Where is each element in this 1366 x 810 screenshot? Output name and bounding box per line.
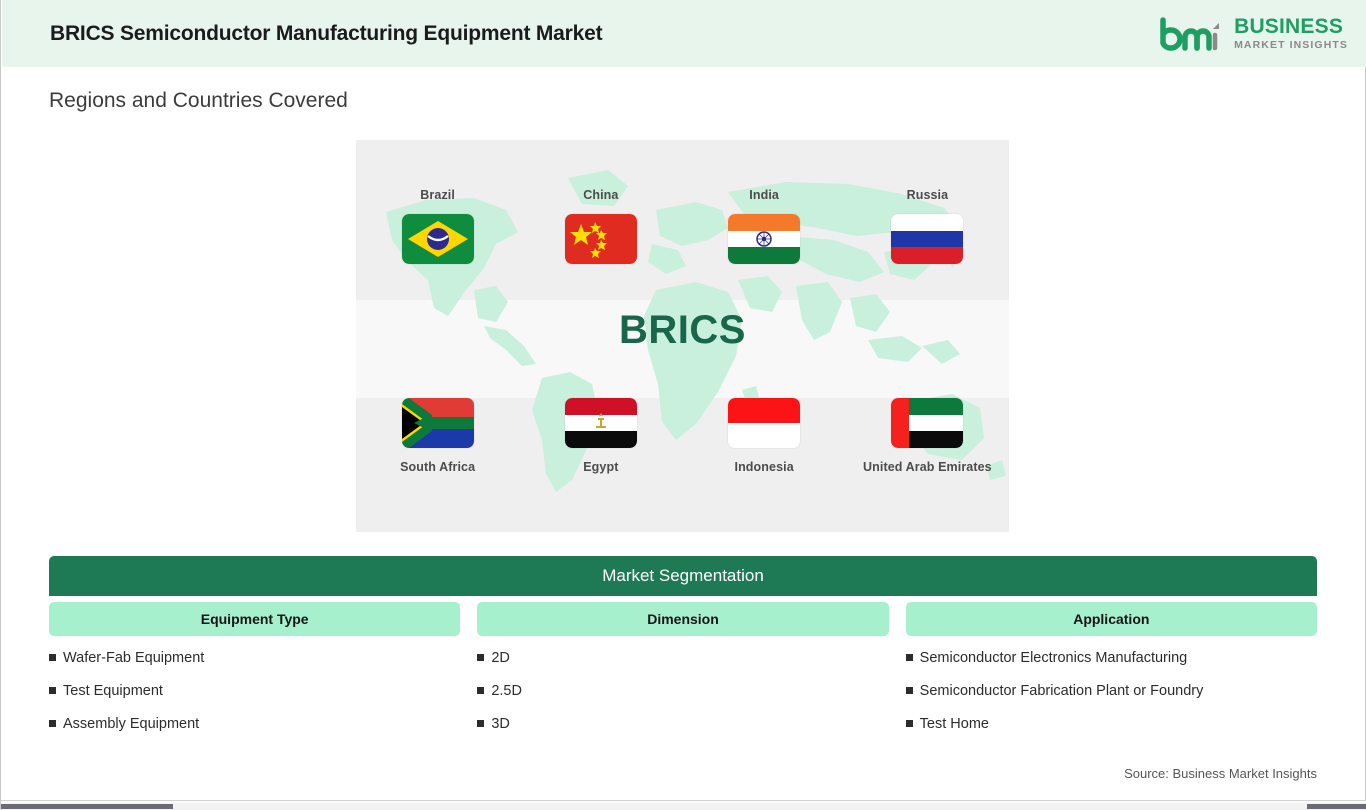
source-attribution: Source: Business Market Insights — [1124, 766, 1317, 781]
brand-logo: BUSINESS MARKET INSIGHTS — [1157, 16, 1348, 51]
country-label-uae: United Arab Emirates — [863, 460, 992, 474]
country-cell-egypt: Egypt — [519, 398, 682, 474]
segmentation-column-header-equipment-type: Equipment Type — [49, 602, 460, 636]
square-bullet-icon — [477, 687, 484, 694]
country-label-south-africa: South Africa — [400, 460, 475, 474]
scrollbar-track[interactable] — [1, 803, 1366, 810]
regions-map-panel: BRICS Brazil China — [356, 140, 1009, 532]
list-item: 3D — [477, 716, 888, 732]
segmentation-column-equipment-type: Wafer-Fab Equipment Test Equipment Assem… — [49, 650, 460, 749]
country-label-brazil: Brazil — [420, 188, 455, 202]
square-bullet-icon — [906, 654, 913, 661]
list-item-label: Semiconductor Fabrication Plant or Found… — [920, 683, 1204, 699]
square-bullet-icon — [477, 654, 484, 661]
segmentation-column-header-dimension: Dimension — [477, 602, 888, 636]
square-bullet-icon — [477, 720, 484, 727]
indonesia-flag-icon — [728, 398, 800, 448]
country-label-russia: Russia — [907, 188, 949, 202]
flag-row-bottom: South Africa Egypt — [356, 398, 1009, 474]
country-cell-brazil: Brazil — [356, 188, 519, 264]
square-bullet-icon — [49, 720, 56, 727]
egypt-flag-icon — [565, 398, 637, 448]
section-title: Regions and Countries Covered — [49, 89, 348, 113]
country-label-egypt: Egypt — [583, 460, 618, 474]
flag-row-top: Brazil China — [356, 188, 1009, 264]
logo-subtitle-text: MARKET INSIGHTS — [1234, 40, 1348, 51]
list-item-label: 2D — [491, 650, 510, 666]
bmi-logo-icon — [1157, 17, 1225, 51]
brazil-flag-icon — [402, 214, 474, 264]
brics-center-label: BRICS — [356, 308, 1009, 353]
country-cell-china: China — [519, 188, 682, 264]
page-title: BRICS Semiconductor Manufacturing Equipm… — [50, 22, 602, 46]
country-label-china: China — [583, 188, 618, 202]
russia-flag-icon — [891, 214, 963, 264]
list-item: Semiconductor Fabrication Plant or Found… — [906, 683, 1317, 699]
country-label-india: India — [749, 188, 779, 202]
list-item-label: Test Home — [920, 716, 989, 732]
country-cell-russia: Russia — [846, 188, 1009, 264]
square-bullet-icon — [49, 654, 56, 661]
page-header: BRICS Semiconductor Manufacturing Equipm… — [2, 0, 1366, 67]
list-item-label: Semiconductor Electronics Manufacturing — [920, 650, 1188, 666]
country-cell-south-africa: South Africa — [356, 398, 519, 474]
list-item: Assembly Equipment — [49, 716, 460, 732]
horizontal-scrollbar[interactable] — [1, 800, 1366, 810]
list-item: Wafer-Fab Equipment — [49, 650, 460, 666]
segmentation-body: Wafer-Fab Equipment Test Equipment Assem… — [49, 650, 1317, 749]
country-label-indonesia: Indonesia — [735, 460, 794, 474]
india-flag-icon — [728, 214, 800, 264]
country-cell-indonesia: Indonesia — [683, 398, 846, 474]
slide-page: BRICS Semiconductor Manufacturing Equipm… — [0, 0, 1366, 810]
logo-business-text: BUSINESS — [1234, 16, 1348, 37]
segmentation-column-headers: Equipment Type Dimension Application — [49, 602, 1317, 636]
list-item: Test Home — [906, 716, 1317, 732]
country-cell-india: India — [683, 188, 846, 264]
square-bullet-icon — [906, 720, 913, 727]
logo-wordmark: BUSINESS MARKET INSIGHTS — [1234, 16, 1348, 51]
square-bullet-icon — [906, 687, 913, 694]
list-item: Test Equipment — [49, 683, 460, 699]
scrollbar-thumb[interactable] — [1, 804, 173, 809]
square-bullet-icon — [49, 687, 56, 694]
south-africa-flag-icon — [402, 398, 474, 448]
segmentation-column-dimension: 2D 2.5D 3D — [477, 650, 888, 749]
list-item: 2.5D — [477, 683, 888, 699]
list-item-label: 2.5D — [491, 683, 522, 699]
list-item: 2D — [477, 650, 888, 666]
list-item: Semiconductor Electronics Manufacturing — [906, 650, 1317, 666]
market-segmentation-header: Market Segmentation — [49, 556, 1317, 596]
list-item-label: Assembly Equipment — [63, 716, 199, 732]
country-cell-uae: United Arab Emirates — [846, 398, 1009, 474]
uae-flag-icon — [891, 398, 963, 448]
segmentation-column-header-application: Application — [906, 602, 1317, 636]
scrollbar-thumb-right[interactable] — [1307, 804, 1366, 809]
segmentation-column-application: Semiconductor Electronics Manufacturing … — [906, 650, 1317, 749]
list-item-label: Wafer-Fab Equipment — [63, 650, 204, 666]
list-item-label: Test Equipment — [63, 683, 163, 699]
list-item-label: 3D — [491, 716, 510, 732]
china-flag-icon — [565, 214, 637, 264]
